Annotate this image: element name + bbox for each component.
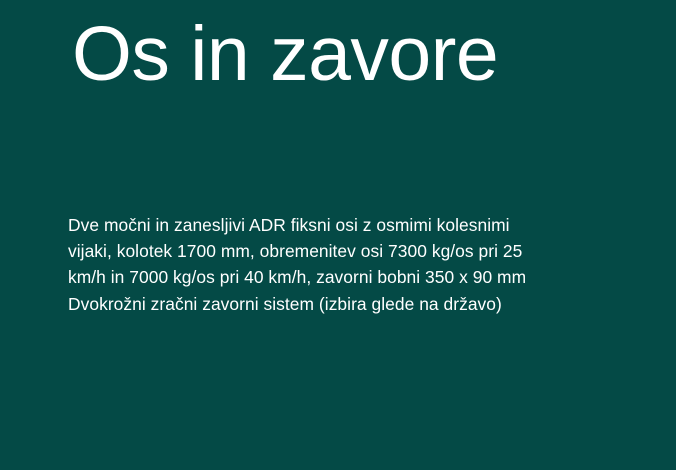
description-line: Dvokrožni zračni zavorni sistem (izbira … <box>68 291 598 317</box>
page-title: Os in zavore <box>72 16 636 93</box>
description-line: Dve močni in zanesljivi ADR fiksni osi z… <box>68 212 598 238</box>
description-line: km/h in 7000 kg/os pri 40 km/h, zavorni … <box>68 264 598 290</box>
spec-slide: Os in zavore Dve močni in zanesljivi ADR… <box>0 0 676 470</box>
heading-block: Os in zavore <box>72 16 636 93</box>
description-line: vijaki, kolotek 1700 mm, obremenitev osi… <box>68 238 598 264</box>
description-block: Dve močni in zanesljivi ADR fiksni osi z… <box>68 212 598 317</box>
